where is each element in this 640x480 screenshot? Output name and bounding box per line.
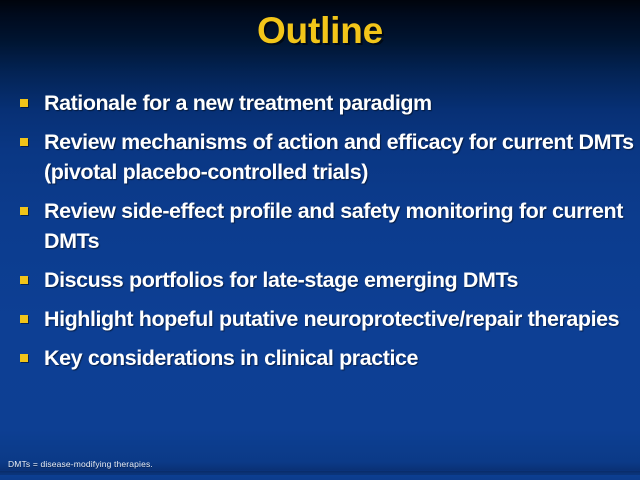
slide-title-area: Outline — [0, 10, 640, 52]
list-item-label: Review mechanisms of action and efficacy… — [44, 127, 634, 187]
footnote-abbreviation: DMTs = disease-modifying therapies. — [8, 459, 153, 470]
list-item: Review mechanisms of action and efficacy… — [20, 127, 634, 187]
square-bullet-icon — [20, 99, 28, 107]
square-bullet-icon — [20, 354, 28, 362]
list-item: Discuss portfolios for late-stage emergi… — [20, 265, 634, 295]
list-item: Highlight hopeful putative neuroprotecti… — [20, 304, 634, 334]
list-item: Rationale for a new treatment paradigm — [20, 88, 634, 118]
page-title: Outline — [257, 10, 383, 52]
bullet-list: Rationale for a new treatment paradigm R… — [20, 88, 634, 382]
list-item-label: Discuss portfolios for late-stage emergi… — [44, 265, 634, 295]
list-item: Review side-effect profile and safety mo… — [20, 196, 634, 256]
slide-bottom-band — [0, 471, 640, 475]
list-item-label: Review side-effect profile and safety mo… — [44, 196, 634, 256]
presentation-slide: Outline Rationale for a new treatment pa… — [0, 0, 640, 480]
square-bullet-icon — [20, 315, 28, 323]
list-item-label: Rationale for a new treatment paradigm — [44, 88, 634, 118]
list-item: Key considerations in clinical practice — [20, 343, 634, 373]
square-bullet-icon — [20, 276, 28, 284]
square-bullet-icon — [20, 138, 28, 146]
list-item-label: Highlight hopeful putative neuroprotecti… — [44, 304, 634, 334]
square-bullet-icon — [20, 207, 28, 215]
list-item-label: Key considerations in clinical practice — [44, 343, 634, 373]
